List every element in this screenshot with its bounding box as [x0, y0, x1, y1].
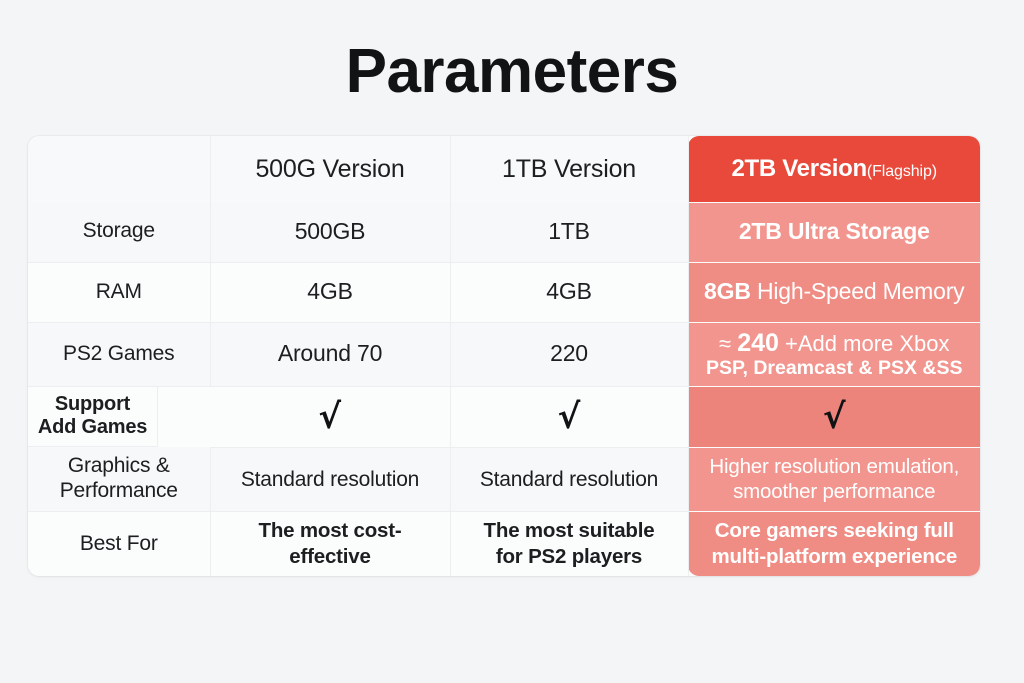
cell-ps2-games-2tb: ≈ 240 +Add more Xbox PSP, Dreamcast & PS…	[688, 322, 980, 386]
table-header: 500G Version 1TB Version 2TB Version(Fla…	[28, 136, 980, 202]
cell-best-for-1tb-line1: The most suitable	[459, 518, 680, 544]
cell-storage-2tb-text: 2TB Ultra Storage	[697, 218, 973, 246]
cell-graphics-2tb: Higher resolution emulation, smoother pe…	[688, 447, 980, 512]
row-label-graphics-text: Graphics & Performance	[54, 454, 184, 504]
header-cell-500g: 500G Version	[210, 136, 450, 202]
cell-ps2-games-2tb-count: 240	[737, 329, 779, 357]
header-2tb-flagship-tag: (Flagship)	[867, 163, 937, 180]
table-row-graphics-performance: Graphics & Performance Standard resoluti…	[28, 447, 980, 512]
header-cell-2tb-flagship: 2TB Version(Flagship)	[688, 136, 980, 202]
table-row-support-add-games: Support Add Games √ √ √	[28, 386, 980, 447]
row-label-storage: Storage	[28, 202, 210, 262]
cell-best-for-1tb: The most suitable for PS2 players	[450, 512, 688, 576]
parameters-table-container: 500G Version 1TB Version 2TB Version(Fla…	[28, 136, 980, 576]
checkmark-icon: √	[318, 397, 341, 437]
cell-ps2-games-500g: Around 70	[210, 322, 450, 386]
parameters-table: 500G Version 1TB Version 2TB Version(Fla…	[28, 136, 980, 576]
cell-best-for-2tb-text: Core gamers seeking full multi-platform …	[697, 518, 973, 570]
cell-ps2-games-2tb-approx: ≈	[719, 331, 731, 356]
cell-best-for-1tb-line2: for PS2 players	[459, 544, 680, 570]
cell-ram-2tb-detail: High-Speed Memory	[757, 278, 965, 304]
table-header-row: 500G Version 1TB Version 2TB Version(Fla…	[28, 136, 980, 202]
cell-ps2-games-2tb-text: ≈ 240 +Add more Xbox PSP, Dreamcast & PS…	[697, 329, 973, 380]
row-label-best-for: Best For	[28, 512, 210, 576]
header-cell-blank	[28, 136, 210, 202]
cell-best-for-500g: The most cost-effective	[210, 512, 450, 576]
cell-ps2-games-2tb-line1: ≈ 240 +Add more Xbox	[697, 329, 973, 357]
cell-ps2-games-2tb-line2: PSP, Dreamcast & PSX &SS	[697, 357, 973, 380]
cell-graphics-1tb: Standard resolution	[450, 447, 688, 512]
cell-ram-2tb-size: 8GB	[704, 278, 751, 304]
cell-ps2-games-2tb-extra: +Add more Xbox	[785, 331, 949, 356]
table-row-best-for: Best For The most cost-effective The mos…	[28, 512, 980, 576]
cell-ps2-games-1tb: 220	[450, 322, 688, 386]
row-label-support-add-games: Support Add Games	[28, 387, 158, 447]
table-row-ps2-games: PS2 Games Around 70 220 ≈ 240 +Add more …	[28, 322, 980, 386]
header-cell-1tb: 1TB Version	[450, 136, 688, 202]
cell-support-2tb: √	[688, 386, 980, 447]
table-row-ram: RAM 4GB 4GB 8GB High-Speed Memory	[28, 262, 980, 322]
cell-ram-1tb: 4GB	[450, 262, 688, 322]
cell-storage-500g: 500GB	[210, 202, 450, 262]
cell-storage-2tb: 2TB Ultra Storage	[688, 202, 980, 262]
row-label-ps2-games: PS2 Games	[28, 322, 210, 386]
cell-best-for-2tb: Core gamers seeking full multi-platform …	[688, 512, 980, 576]
cell-graphics-2tb-text: Higher resolution emulation, smoother pe…	[697, 454, 973, 506]
cell-ram-500g: 4GB	[210, 262, 450, 322]
cell-support-500g: √	[210, 386, 450, 447]
table-row-storage: Storage 500GB 1TB 2TB Ultra Storage	[28, 202, 980, 262]
cell-support-1tb: √	[450, 386, 688, 447]
row-label-graphics-performance: Graphics & Performance	[28, 447, 210, 512]
page-title: Parameters	[0, 38, 1024, 106]
checkmark-icon: √	[823, 397, 846, 437]
cell-storage-1tb: 1TB	[450, 202, 688, 262]
cell-ram-2tb: 8GB High-Speed Memory	[688, 262, 980, 322]
header-2tb-title: 2TB Version	[731, 155, 866, 182]
table-body: Storage 500GB 1TB 2TB Ultra Storage RAM …	[28, 202, 980, 576]
cell-ram-2tb-text: 8GB High-Speed Memory	[697, 278, 973, 306]
cell-graphics-500g: Standard resolution	[210, 447, 450, 512]
row-label-ram: RAM	[28, 262, 210, 322]
checkmark-icon: √	[558, 397, 581, 437]
comparison-table-page: Parameters 500G Version 1TB Version 2TB …	[0, 0, 1024, 683]
